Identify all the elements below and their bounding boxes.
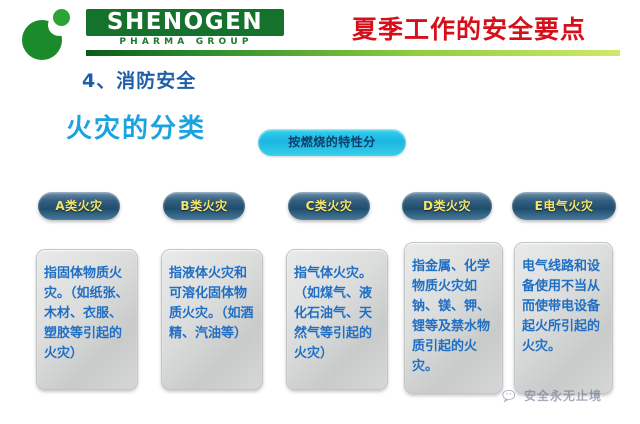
wechat-icon — [502, 389, 520, 403]
category-description-e: 电气线路和设备使用不当从而使带电设备起火所引起的火灾。 — [522, 257, 607, 357]
watermark: 安全永无止境 — [502, 386, 632, 408]
category-pill-c[interactable]: C类火灾 — [288, 192, 370, 220]
shenogen-circle-logo — [20, 8, 82, 60]
logo-wordmark-plate: SHENOGEN — [86, 9, 284, 36]
logo-small-circle — [53, 9, 70, 26]
category-description-box-b: 指液体火灾和可溶化固体物质火灾。（如酒精、汽油等） — [161, 249, 263, 390]
header-gradient-rule — [86, 50, 620, 56]
category-description-box-e: 电气线路和设备使用不当从而使带电设备起火所引起的火灾。 — [514, 242, 613, 394]
criteria-badge-label: 按燃烧的特性分 — [258, 129, 406, 156]
category-description-d: 指金属、化学物质火灾如钠、镁、钾、锂等及禁水物质引起的火灾。 — [412, 257, 497, 377]
category-pill-b[interactable]: B类火灾 — [163, 192, 245, 220]
category-pill-e-label: E电气火灾 — [512, 192, 616, 220]
category-pill-d[interactable]: D类火灾 — [402, 192, 492, 220]
category-description-box-a: 指固体物质火灾。（如纸张、木材、衣服、塑胶等引起的火灾） — [36, 249, 138, 390]
slide-canvas: SHENOGEN PHARMA GROUP 夏季工作的安全要点 4、消防安全 火… — [0, 0, 640, 424]
criteria-badge: 按燃烧的特性分 — [258, 129, 406, 156]
category-pill-e[interactable]: E电气火灾 — [512, 192, 616, 220]
page-title: 夏季工作的安全要点 — [352, 10, 586, 46]
category-description-box-d: 指金属、化学物质火灾如钠、镁、钾、锂等及禁水物质引起的火灾。 — [404, 242, 503, 394]
category-pill-d-label: D类火灾 — [402, 192, 492, 220]
watermark-label: 安全永无止境 — [524, 387, 602, 404]
logo-subwordmark-text: PHARMA GROUP — [88, 37, 284, 47]
category-description-b: 指液体火灾和可溶化固体物质火灾。（如酒精、汽油等） — [169, 264, 257, 344]
category-pill-b-label: B类火灾 — [163, 192, 245, 220]
category-pill-a[interactable]: A类火灾 — [38, 192, 120, 220]
section-title-heading: 火灾的分类 — [66, 108, 206, 145]
logo-wordmark-text: SHENOGEN — [86, 9, 284, 36]
category-pill-c-label: C类火灾 — [288, 192, 370, 220]
slide-header: SHENOGEN PHARMA GROUP 夏季工作的安全要点 — [0, 0, 640, 60]
section-number-heading: 4、消防安全 — [82, 66, 196, 93]
category-description-box-c: 指气体火灾。（如煤气、液化石油气、天然气等引起的火灾） — [286, 249, 388, 390]
category-description-c: 指气体火灾。（如煤气、液化石油气、天然气等引起的火灾） — [294, 264, 382, 364]
category-description-a: 指固体物质火灾。（如纸张、木材、衣服、塑胶等引起的火灾） — [44, 264, 132, 364]
category-pill-a-label: A类火灾 — [38, 192, 120, 220]
